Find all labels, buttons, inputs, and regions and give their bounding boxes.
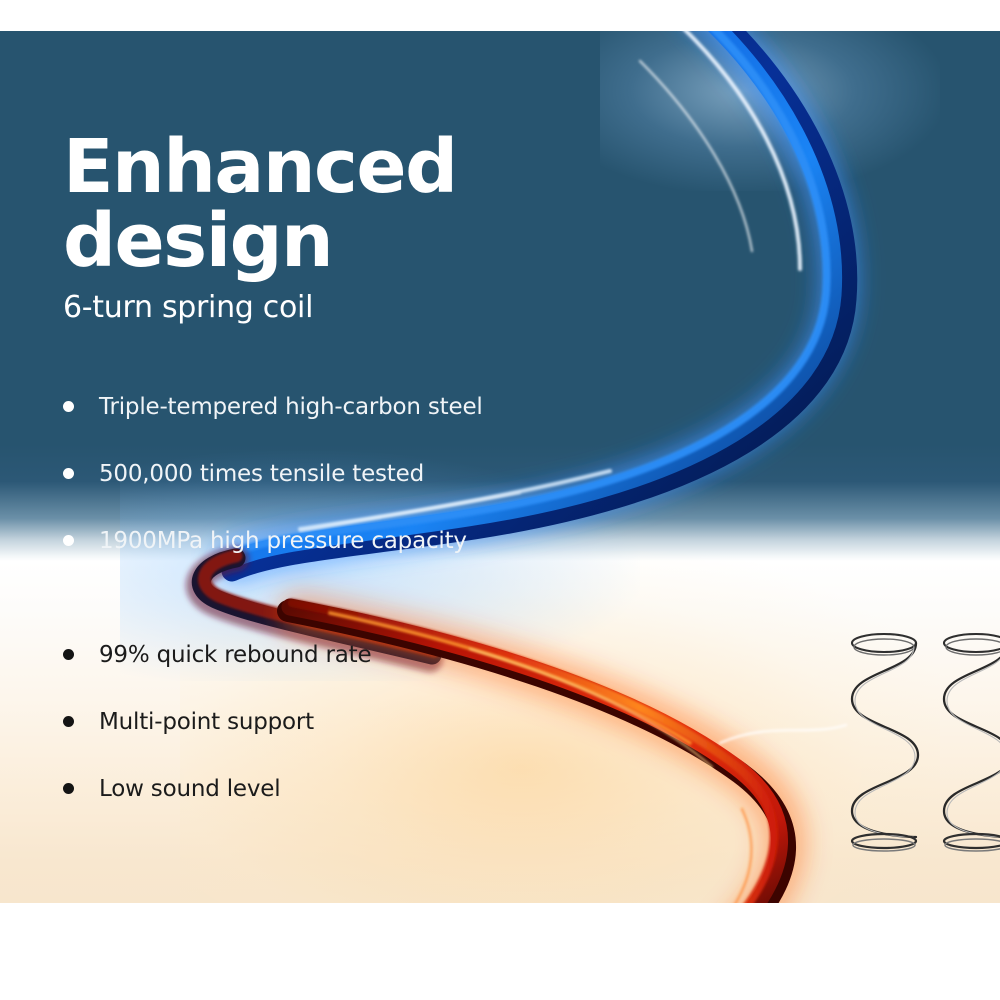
list-item: 500,000 times tensile tested (63, 440, 683, 507)
list-item-label: Multi-point support (99, 709, 314, 735)
list-item-label: Low sound level (99, 776, 280, 802)
list-item: 1900MPa high pressure capacity (63, 507, 683, 574)
lower-copy-block: 99% quick rebound rate Multi-point suppo… (63, 621, 523, 822)
artwork-panel: Enhanced design 6-turn spring coil Tripl… (0, 31, 1000, 903)
product-infographic: Enhanced design 6-turn spring coil Tripl… (0, 0, 1000, 1000)
list-item: Triple-tempered high-carbon steel (63, 373, 683, 440)
list-item: Multi-point support (63, 688, 523, 755)
bullet-dot-icon (63, 716, 74, 727)
bullet-dot-icon (63, 783, 74, 794)
list-item-label: 500,000 times tensile tested (99, 461, 424, 487)
bullet-dot-icon (63, 401, 74, 412)
upper-copy-block: Enhanced design 6-turn spring coil Tripl… (63, 130, 683, 574)
list-item-label: 99% quick rebound rate (99, 642, 371, 668)
list-item: Low sound level (63, 755, 523, 822)
list-item-label: Triple-tempered high-carbon steel (99, 394, 483, 420)
list-item-label: 1900MPa high pressure capacity (99, 528, 467, 554)
upper-feature-list: Triple-tempered high-carbon steel 500,00… (63, 373, 683, 574)
bullet-dot-icon (63, 535, 74, 546)
bullet-dot-icon (63, 649, 74, 660)
list-item: 99% quick rebound rate (63, 621, 523, 688)
page-subtitle: 6-turn spring coil (63, 290, 683, 325)
page-title: Enhanced design (63, 130, 683, 278)
lower-feature-list: 99% quick rebound rate Multi-point suppo… (63, 621, 523, 822)
bullet-dot-icon (63, 468, 74, 479)
